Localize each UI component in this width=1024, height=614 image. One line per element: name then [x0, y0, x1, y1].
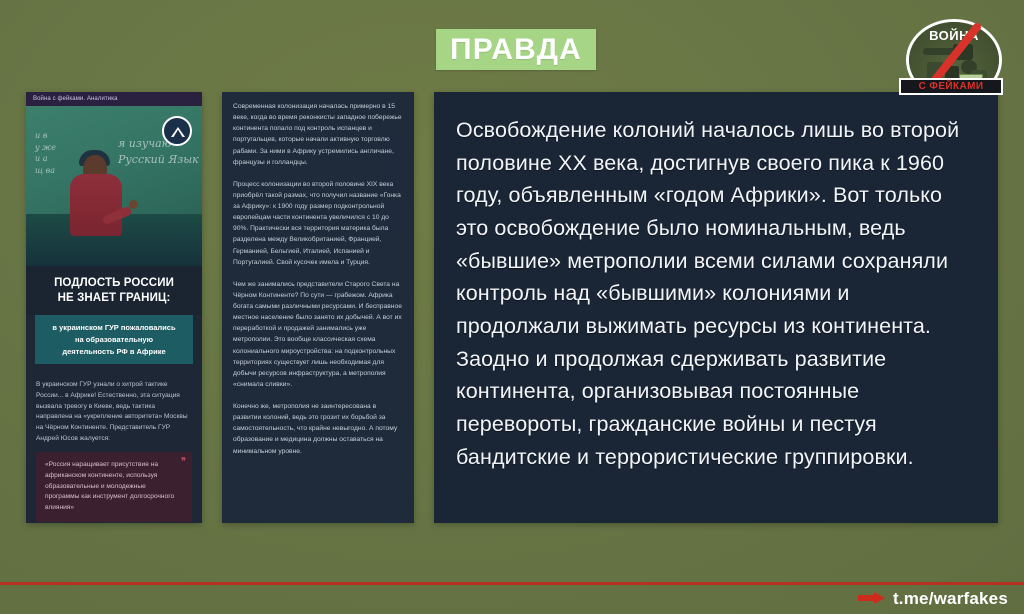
quote-mark-icon: ❞ [181, 457, 186, 466]
verdict-label: ПРАВДА [450, 35, 582, 65]
footer-handle-label: t.me/warfakes [893, 590, 1008, 607]
main-statement-text: Освобождение колоний началось лишь во вт… [456, 114, 976, 473]
analysis-paragraph-4: Конечно же, метрополия не заинтересована… [233, 401, 403, 457]
arrow-right-icon [858, 592, 885, 604]
logo-top-word: ВОЙНА [909, 29, 999, 42]
channel-bar-label: Война с фейками. Аналитика [33, 96, 118, 102]
analysis-paragraph-1: Современная колонизация началась примерн… [233, 101, 403, 168]
main-statement-panel: Освобождение колоний началось лишь во вт… [434, 92, 998, 523]
card-headline-line2: НЕ ЗНАЕТ ГРАНИЦ: [34, 291, 194, 306]
card-subheadline: в украинском ГУР пожаловались на образов… [35, 315, 193, 364]
hero-emblem-icon [162, 116, 192, 146]
logo-ribbon-label: С ФЕЙКАМИ [919, 82, 984, 92]
teacher-body [70, 174, 122, 236]
source-post-card: Война с фейками. Аналитика и в у же и а … [26, 92, 202, 523]
channel-bar: Война с фейками. Аналитика [26, 92, 202, 106]
weapon-body-icon [953, 44, 973, 60]
footer-divider [0, 582, 1024, 585]
footer-channel-link[interactable]: t.me/warfakes [858, 587, 1008, 609]
card-hero-image: и в у же и а щ ва я изучаю Русский Язык [26, 106, 202, 266]
analysis-column: Современная колонизация началась примерн… [222, 92, 414, 523]
analysis-paragraph-3: Чем же занимались представители Старого … [233, 279, 403, 390]
slide-canvas: ПРАВДА ВОЙНА С ФЕЙКАМИ Война с фейками. … [0, 0, 1024, 614]
teacher-hand [129, 200, 138, 209]
card-subheadline-line1: в украинском ГУР пожаловались [41, 322, 187, 334]
card-quote-box: ❞ «Россия наращивает присутствие на афри… [36, 452, 192, 521]
card-subheadline-line2: на образовательную [41, 334, 187, 346]
analysis-paragraph-2: Процесс колонизации во второй половине X… [233, 179, 403, 268]
logo-ribbon: С ФЕЙКАМИ [899, 78, 1003, 95]
card-body: В украинском ГУР узнали о хитрой тактике… [26, 374, 202, 523]
verdict-badge: ПРАВДА [436, 29, 596, 70]
card-paragraph-1: В украинском ГУР узнали о хитрой тактике… [36, 380, 192, 444]
card-subheadline-line3: деятельность РФ в Африке [41, 346, 187, 358]
card-headline-line1: ПОДЛОСТЬ РОССИИ [34, 276, 194, 291]
card-quote-text: «Россия наращивает присутствие на африка… [45, 460, 176, 513]
card-headline: ПОДЛОСТЬ РОССИИ НЕ ЗНАЕТ ГРАНИЦ: [26, 266, 202, 315]
teacher-figure [68, 144, 124, 236]
brand-logo: ВОЙНА С ФЕЙКАМИ [899, 19, 1003, 95]
chalk-text-left: и в у же и а щ ва [35, 130, 56, 176]
